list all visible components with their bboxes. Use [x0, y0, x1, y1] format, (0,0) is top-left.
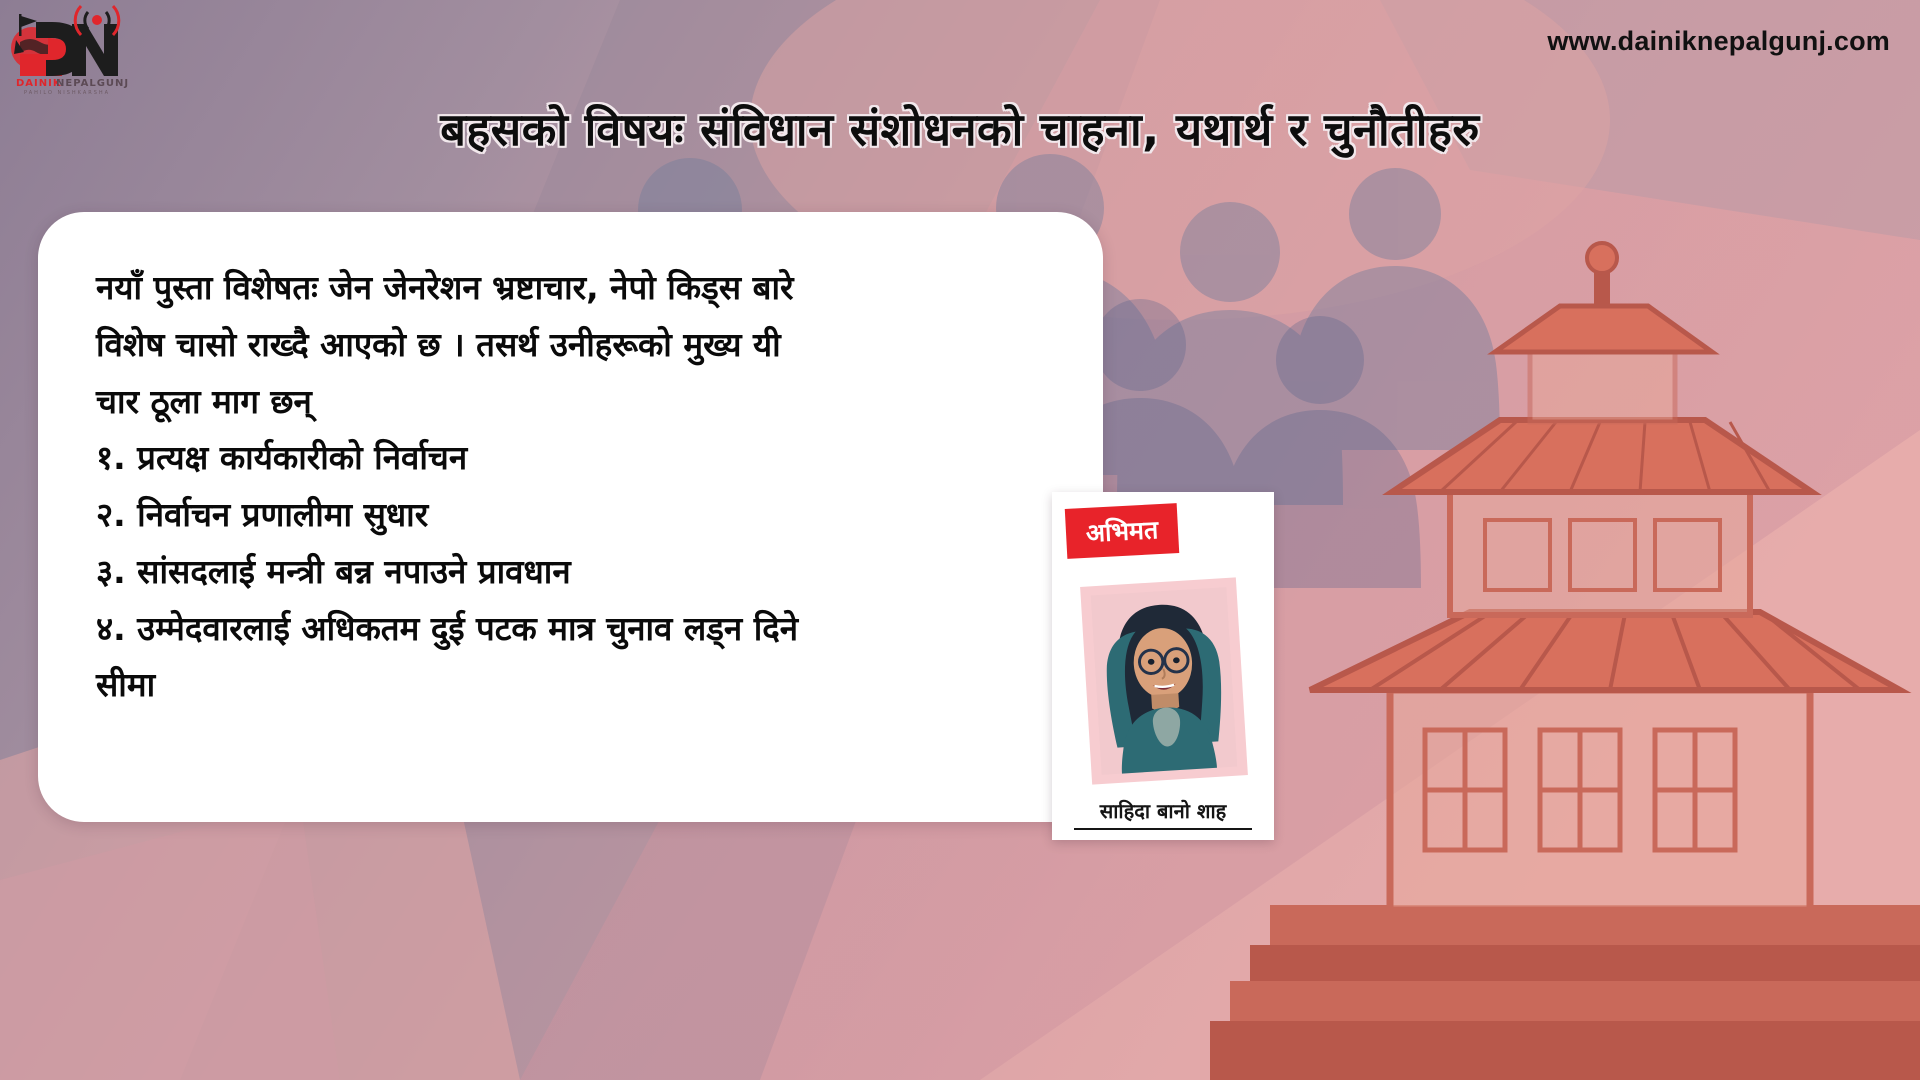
- opinion-badge: अभिमत: [1065, 503, 1179, 559]
- site-url: www.dainiknepalgunj.com: [1547, 26, 1890, 57]
- page-title: बहसको विषयः संविधान संशोधनको चाहना, यथार…: [0, 98, 1920, 159]
- poster-background: DAINIK NEPALGUNJ PAHILO NISHKARSHA www.d…: [0, 0, 1920, 1080]
- author-divider: [1074, 828, 1252, 830]
- author-photo-frame: [1080, 577, 1248, 784]
- demand-item-4: ४. उम्मेदवारलाई अधिकतम दुई पटक मात्र चुन…: [96, 601, 1065, 658]
- content-card: नयाँ पुस्ता विशेषतः जेन जेनरेशन भ्रष्टाच…: [38, 212, 1103, 822]
- site-logo[interactable]: DAINIK NEPALGUNJ PAHILO NISHKARSHA: [8, 4, 128, 96]
- body-line: विशेष चासो राख्दै आएको छ । तसर्थ उनीहरूक…: [96, 317, 1065, 374]
- author-portrait: [1091, 586, 1238, 776]
- dainik-nepalgunj-logo-icon: DAINIK NEPALGUNJ PAHILO NISHKARSHA: [8, 4, 128, 96]
- article-body: नयाँ पुस्ता विशेषतः जेन जेनरेशन भ्रष्टाच…: [96, 260, 1065, 714]
- author-name: साहिदा बानो शाह: [1052, 797, 1274, 824]
- demand-item-3: ३. सांसदलाई मन्त्री बन्न नपाउने प्रावधान: [96, 544, 1065, 601]
- body-line: चार ठूला माग छन्: [96, 374, 1065, 431]
- opinion-badge-label: अभिमत: [1085, 517, 1159, 546]
- demand-item-1: १. प्रत्यक्ष कार्यकारीको निर्वाचन: [96, 430, 1065, 487]
- body-line: नयाँ पुस्ता विशेषतः जेन जेनरेशन भ्रष्टाच…: [96, 260, 1065, 317]
- demand-item-4-cont: सीमा: [96, 657, 1065, 714]
- svg-text:DAINIK: DAINIK: [16, 78, 62, 89]
- svg-text:PAHILO NISHKARSHA: PAHILO NISHKARSHA: [24, 90, 110, 96]
- svg-text:NEPALGUNJ: NEPALGUNJ: [56, 78, 128, 89]
- author-card: अभिमत: [1052, 492, 1274, 840]
- demand-item-2: २. निर्वाचन प्रणालीमा सुधार: [96, 487, 1065, 544]
